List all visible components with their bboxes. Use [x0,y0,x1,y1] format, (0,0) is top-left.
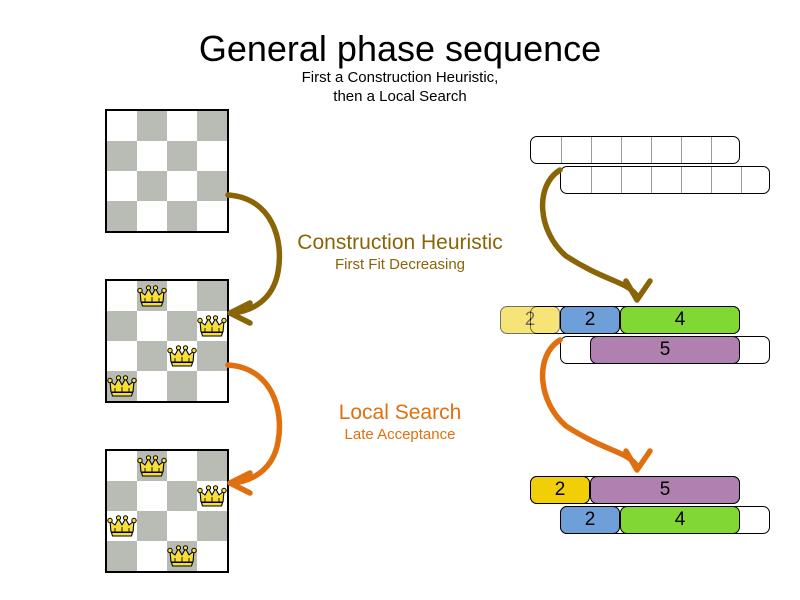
board-cell [107,371,137,401]
bin-item: 2 [530,476,590,504]
board-cell [197,281,227,311]
board-cell [137,201,167,231]
phase-name-construction-heuristic: Construction Heuristic [250,230,550,255]
bin-container [530,136,740,164]
bin-item: 2 [560,306,620,334]
board-cell [137,281,167,311]
board-cell [167,201,197,231]
phase-algorithm-local-search: Late Acceptance [250,425,550,444]
phase-label-construction-heuristic: Construction Heuristic First Fit Decreas… [250,230,550,274]
board-cell [167,451,197,481]
board-cell [137,451,167,481]
bin-item: 2 [500,306,560,334]
board-cell [107,201,137,231]
board-cell [107,111,137,141]
queen-icon [107,371,137,401]
board-cell [197,541,227,571]
chessboard-initial [105,109,229,233]
board-cell [197,141,227,171]
queen-icon [137,451,167,481]
board-cell [167,341,197,371]
board-cell [137,541,167,571]
bin-divider [621,167,622,193]
board-cell [107,541,137,571]
board-cell [167,111,197,141]
board-cell [137,311,167,341]
board-cell [107,511,137,541]
bin-divider [561,137,562,163]
board-cell [107,451,137,481]
queen-icon [167,541,197,571]
queen-icon [167,341,197,371]
board-cell [197,171,227,201]
board-cell [137,341,167,371]
board-cell [197,341,227,371]
board-cell [137,171,167,201]
queen-icon [197,311,227,341]
board-cell [197,371,227,401]
bin-divider [651,167,652,193]
bin-divider [711,137,712,163]
page-subtitle-line1: First a Construction Heuristic, [0,68,800,87]
bin-item: 5 [590,476,740,504]
phase-algorithm-construction-heuristic: First Fit Decreasing [250,255,550,274]
board-cell [167,481,197,511]
bin-divider [591,167,592,193]
board-cell [137,111,167,141]
bin-divider [681,167,682,193]
board-cell [197,451,227,481]
chessboard-local-search [105,449,229,573]
board-cell [167,281,197,311]
board-cell [167,541,197,571]
page-title: General phase sequence [0,28,800,70]
board-cell [197,201,227,231]
queen-icon [107,511,137,541]
queen-icon [197,481,227,511]
bin-item: 4 [620,506,740,534]
board-cell [107,281,137,311]
bin-container [560,166,770,194]
board-cell [167,311,197,341]
board-cell [107,311,137,341]
bin-divider [591,137,592,163]
phase-label-local-search: Local Search Late Acceptance [250,400,550,444]
bin-divider [711,167,712,193]
queen-icon [137,281,167,311]
board-cell [137,511,167,541]
board-cell [137,141,167,171]
board-cell [167,511,197,541]
board-cell [167,171,197,201]
phase-name-local-search: Local Search [250,400,550,425]
board-cell [167,141,197,171]
bin-divider [651,137,652,163]
bin-divider [621,137,622,163]
diagram-canvas: General phase sequence First a Construct… [0,0,800,600]
bin-divider [741,167,742,193]
board-cell [197,481,227,511]
board-cell [107,341,137,371]
board-cell [107,481,137,511]
bin-item: 5 [590,336,740,364]
bin-item: 4 [620,306,740,334]
bin-divider [681,137,682,163]
board-cell [167,371,197,401]
board-cell [197,511,227,541]
bin-item: 2 [560,506,620,534]
board-cell [137,481,167,511]
board-cell [137,371,167,401]
page-subtitle-line2: then a Local Search [0,87,800,106]
chessboard-construction-heuristic [105,279,229,403]
board-cell [197,111,227,141]
board-cell [107,171,137,201]
board-cell [197,311,227,341]
board-cell [107,141,137,171]
